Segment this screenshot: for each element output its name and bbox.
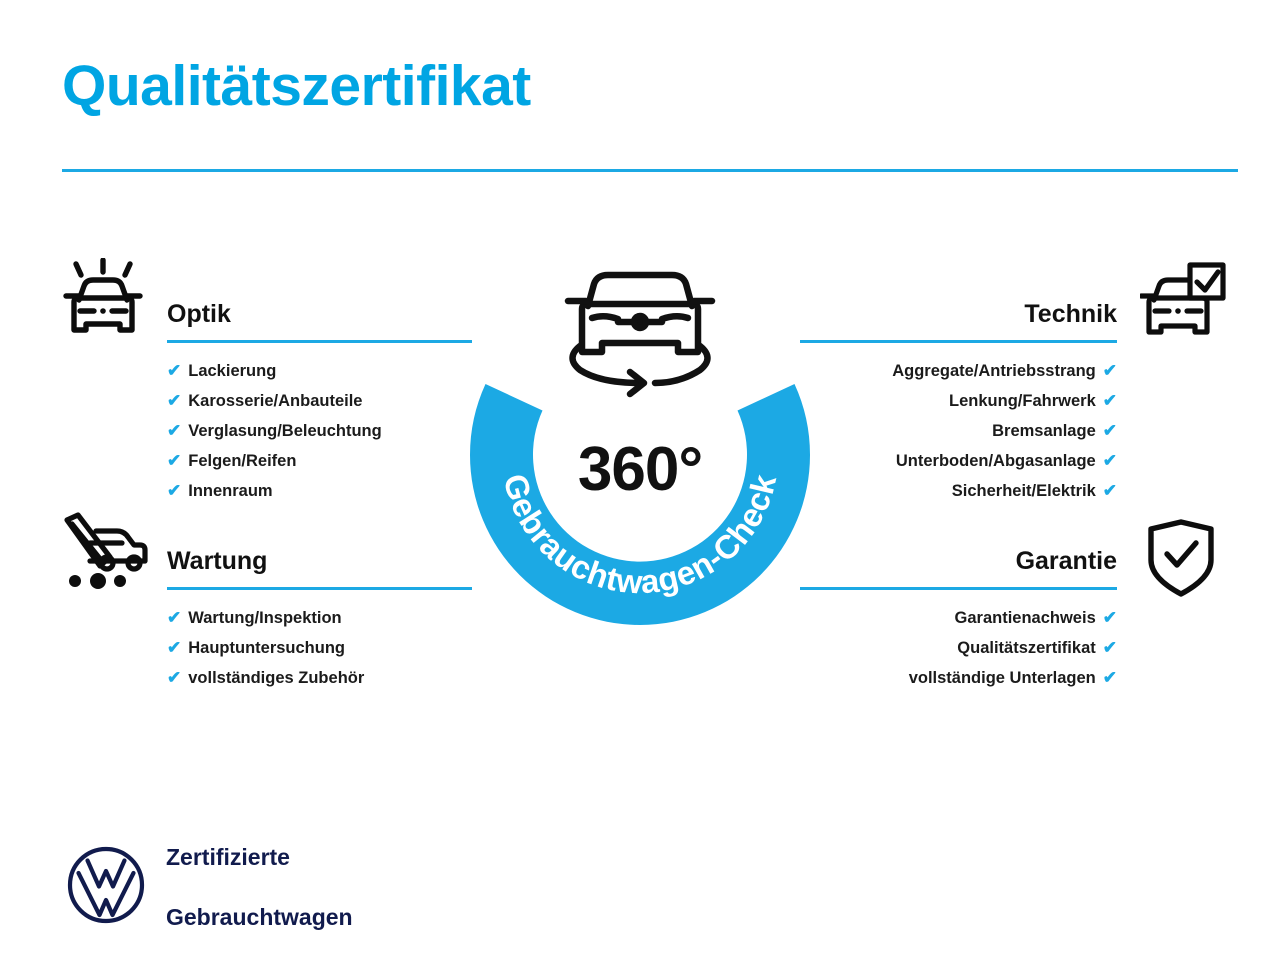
- list-item-label: Bremsanlage: [992, 416, 1096, 446]
- section-header-optik: Optik: [167, 297, 472, 343]
- section-divider: [167, 340, 472, 343]
- badge-center-value: 360°: [452, 434, 828, 505]
- check-icon: ✔: [1103, 356, 1117, 386]
- list-item-label: Qualitätszertifikat: [957, 633, 1095, 663]
- checklist-garantie: Garantienachweis✔ Qualitätszertifikat✔ v…: [800, 603, 1117, 693]
- list-item-label: Lenkung/Fahrwerk: [949, 386, 1096, 416]
- section-title: Optik: [167, 297, 472, 331]
- check-icon: ✔: [1103, 446, 1117, 476]
- check-icon: ✔: [1103, 663, 1117, 693]
- list-item-label: vollständige Unterlagen: [909, 663, 1096, 693]
- shield-check-icon: [1146, 518, 1216, 603]
- check-icon: ✔: [167, 603, 181, 633]
- page-title: Qualitätszertifikat: [62, 55, 531, 118]
- section-title: Garantie: [800, 544, 1117, 578]
- footer-line-2: Gebrauchtwagen: [166, 902, 353, 932]
- check-icon: ✔: [167, 446, 181, 476]
- section-divider: [800, 340, 1117, 343]
- list-item: ✔Hauptuntersuchung: [167, 633, 472, 663]
- list-item-label: Sicherheit/Elektrik: [952, 476, 1096, 506]
- car-rotate-icon: [568, 275, 712, 394]
- list-item: ✔Lackierung: [167, 356, 472, 386]
- check-icon: ✔: [1103, 386, 1117, 416]
- list-item: ✔Wartung/Inspektion: [167, 603, 472, 633]
- car-shine-icon: [60, 258, 146, 349]
- list-item-label: Verglasung/Beleuchtung: [188, 416, 381, 446]
- list-item: Garantienachweis✔: [800, 603, 1117, 633]
- list-item-label: Hauptuntersuchung: [188, 633, 345, 663]
- section-header-technik: Technik: [800, 297, 1117, 343]
- list-item-label: Karosserie/Anbauteile: [188, 386, 362, 416]
- list-item: Lenkung/Fahrwerk✔: [800, 386, 1117, 416]
- check-icon: ✔: [167, 663, 181, 693]
- list-item: Qualitätszertifikat✔: [800, 633, 1117, 663]
- list-item-label: Innenraum: [188, 476, 272, 506]
- section-header-garantie: Garantie: [800, 544, 1117, 590]
- section-garantie: Garantie Garantienachweis✔ Qualitätszert…: [800, 544, 1117, 693]
- checklist-optik: ✔Lackierung ✔Karosserie/Anbauteile ✔Verg…: [167, 356, 472, 506]
- list-item: ✔Innenraum: [167, 476, 472, 506]
- section-title: Technik: [800, 297, 1117, 331]
- check-icon: ✔: [167, 386, 181, 416]
- check-icon: ✔: [167, 356, 181, 386]
- list-item: Aggregate/Antriebsstrang✔: [800, 356, 1117, 386]
- section-wartung: Wartung ✔Wartung/Inspektion ✔Hauptunters…: [167, 544, 472, 693]
- vw-certified-lockup: Zertifizierte Gebrauchtwagen: [66, 812, 353, 960]
- check-icon: ✔: [167, 633, 181, 663]
- check-icon: ✔: [167, 476, 181, 506]
- list-item-label: Lackierung: [188, 356, 276, 386]
- footer-line-1: Zertifizierte: [166, 842, 353, 872]
- list-item-label: Unterboden/Abgasanlage: [896, 446, 1096, 476]
- section-divider: [167, 587, 472, 590]
- list-item: ✔Karosserie/Anbauteile: [167, 386, 472, 416]
- header-divider: [62, 169, 1238, 172]
- list-item: ✔vollständiges Zubehör: [167, 663, 472, 693]
- list-item: Bremsanlage✔: [800, 416, 1117, 446]
- check-icon: ✔: [1103, 633, 1117, 663]
- section-divider: [800, 587, 1117, 590]
- check-icon: ✔: [1103, 603, 1117, 633]
- section-optik: Optik ✔Lackierung ✔Karosserie/Anbauteile…: [167, 297, 472, 506]
- list-item: ✔Verglasung/Beleuchtung: [167, 416, 472, 446]
- list-item-label: Felgen/Reifen: [188, 446, 296, 476]
- check-icon: ✔: [1103, 476, 1117, 506]
- checklist-wartung: ✔Wartung/Inspektion ✔Hauptuntersuchung ✔…: [167, 603, 472, 693]
- list-item: Unterboden/Abgasanlage✔: [800, 446, 1117, 476]
- list-item-label: Wartung/Inspektion: [188, 603, 341, 633]
- car-checkbox-icon: [1140, 262, 1226, 351]
- vw-logo: [66, 845, 146, 930]
- list-item: ✔Felgen/Reifen: [167, 446, 472, 476]
- list-item-label: Garantienachweis: [955, 603, 1096, 633]
- checklist-technik: Aggregate/Antriebsstrang✔ Lenkung/Fahrwe…: [800, 356, 1117, 506]
- check-icon: ✔: [167, 416, 181, 446]
- section-title: Wartung: [167, 544, 472, 578]
- certificate-page: Qualitätszertifikat: [0, 0, 1280, 960]
- list-item-label: vollständiges Zubehör: [188, 663, 364, 693]
- list-item: vollständige Unterlagen✔: [800, 663, 1117, 693]
- list-item: Sicherheit/Elektrik✔: [800, 476, 1117, 506]
- car-service-tool-icon: [60, 511, 152, 596]
- section-header-wartung: Wartung: [167, 544, 472, 590]
- badge-360-gebrauchtwagen-check: Gebrauchtwagen-Check: [452, 248, 828, 638]
- footer-lockup-text: Zertifizierte Gebrauchtwagen: [166, 812, 353, 960]
- section-technik: Technik Aggregate/Antriebsstrang✔ Lenkun…: [800, 297, 1117, 506]
- check-icon: ✔: [1103, 416, 1117, 446]
- list-item-label: Aggregate/Antriebsstrang: [892, 356, 1096, 386]
